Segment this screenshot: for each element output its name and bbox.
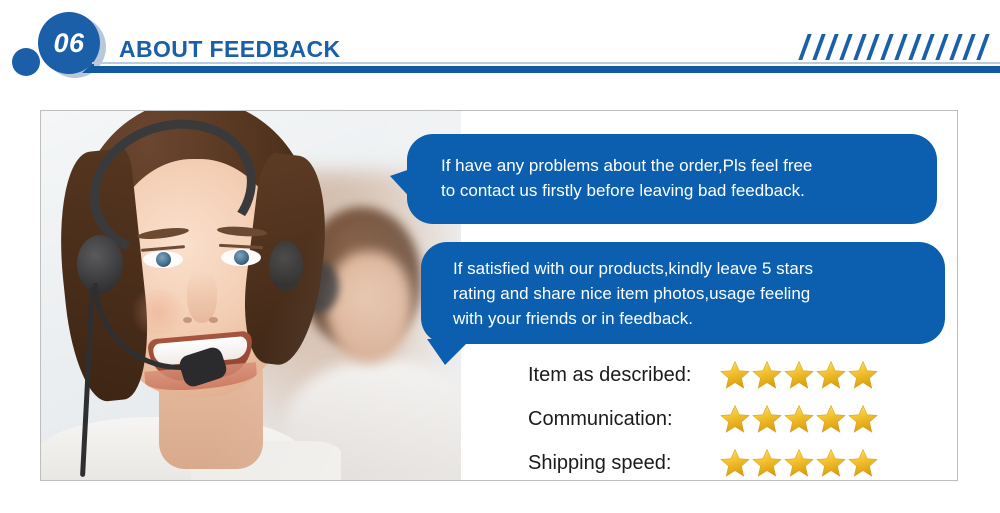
hash-stripe-icon <box>978 34 992 60</box>
section-header: 06 ABOUT FEEDBACK <box>0 0 1000 92</box>
hash-stripe-icon <box>841 34 855 60</box>
headset-earcup-right-icon <box>269 241 303 291</box>
star-icon <box>816 360 846 390</box>
hash-stripe-icon <box>882 34 896 60</box>
hash-stripe-icon <box>827 34 841 60</box>
star-icon <box>720 448 750 478</box>
hash-stripe-icon <box>800 34 814 60</box>
rating-row: Communication: <box>528 397 948 441</box>
star-icon <box>784 404 814 434</box>
section-number-label: 06 <box>53 30 84 57</box>
bubble-1-line-2: to contact us firstly before leaving bad… <box>441 178 937 203</box>
star-icon <box>784 448 814 478</box>
star-icon <box>752 448 782 478</box>
star-icon <box>848 360 878 390</box>
speech-bubble-satisfied-rating: If satisfied with our products,kindly le… <box>421 242 945 344</box>
bubble-2-line-3: with your friends or in feedback. <box>453 306 945 331</box>
hash-stripe-icon <box>951 34 965 60</box>
header-accent-dot-icon <box>12 48 40 76</box>
rating-label: Shipping speed: <box>528 452 720 475</box>
hash-stripe-icon <box>814 34 828 60</box>
speech-bubble-order-problem: If have any problems about the order,Pls… <box>407 134 937 224</box>
star-icon <box>848 404 878 434</box>
rating-row: Shipping speed: <box>528 441 948 481</box>
hash-stripe-icon <box>937 34 951 60</box>
header-rule-thick <box>92 66 1000 73</box>
bubble-1-line-1: If have any problems about the order,Pls… <box>441 153 937 178</box>
star-icon <box>848 448 878 478</box>
rating-list: Item as described:Communication:Shipping… <box>528 353 948 481</box>
rating-row: Item as described: <box>528 353 948 397</box>
star-icon <box>816 448 846 478</box>
header-hash-stripes <box>800 34 992 60</box>
bubble-2-line-1: If satisfied with our products,kindly le… <box>453 256 945 281</box>
hash-stripe-icon <box>910 34 924 60</box>
star-rating <box>720 360 878 390</box>
rating-label: Communication: <box>528 408 720 431</box>
star-icon <box>784 360 814 390</box>
bubble-2-line-2: rating and share nice item photos,usage … <box>453 281 945 306</box>
photo-bg-colleague-face <box>326 251 412 363</box>
hash-stripe-icon <box>964 34 978 60</box>
feedback-panel: If have any problems about the order,Pls… <box>40 110 958 481</box>
star-rating <box>720 404 878 434</box>
header-rule-thin <box>92 62 1000 64</box>
photo-iris-right <box>234 250 249 265</box>
star-icon <box>752 404 782 434</box>
hash-stripe-icon <box>923 34 937 60</box>
hash-stripe-icon <box>868 34 882 60</box>
rating-label: Item as described: <box>528 364 720 387</box>
photo-nostril-right <box>209 317 218 323</box>
star-rating <box>720 448 878 478</box>
star-icon <box>720 360 750 390</box>
star-icon <box>720 404 750 434</box>
photo-eye-right <box>221 249 261 266</box>
hash-stripe-icon <box>896 34 910 60</box>
page-title: ABOUT FEEDBACK <box>119 36 341 63</box>
star-icon <box>752 360 782 390</box>
star-icon <box>816 404 846 434</box>
